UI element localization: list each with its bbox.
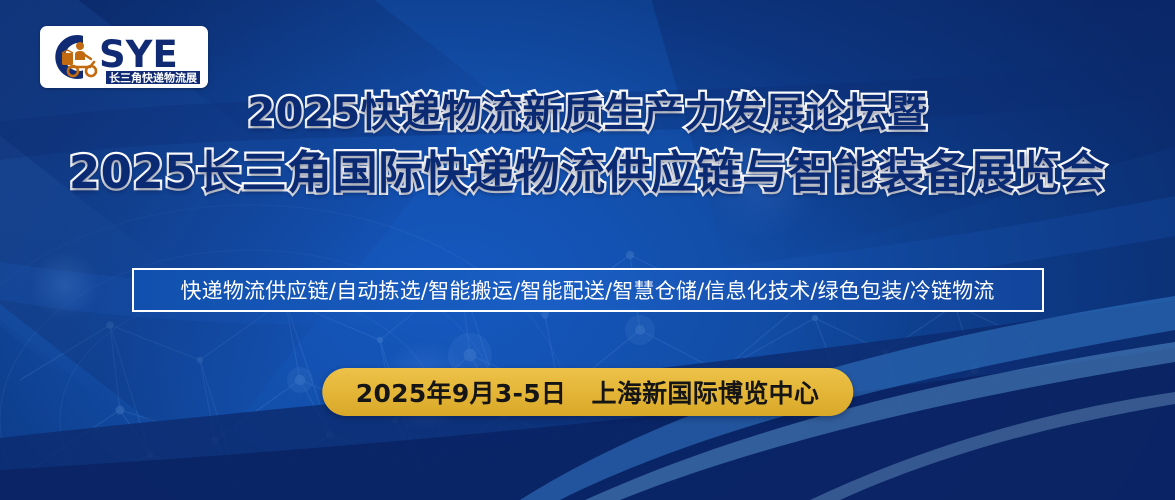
- event-banner: SYE 长三角快递物流展 2025快递物流新质生产力发展论坛暨 2025长三角国…: [0, 0, 1175, 500]
- keywords-text: 快递物流供应链/自动拣选/智能搬运/智能配送/智慧仓储/信息化技术/绿色包装/冷…: [180, 275, 994, 305]
- date-venue-badge: 2025年9月3-5日 上海新国际博览中心: [322, 368, 853, 416]
- csye-logo[interactable]: SYE 长三角快递物流展: [40, 26, 208, 88]
- keywords-band: 快递物流供应链/自动拣选/智能搬运/智能配送/智慧仓储/信息化技术/绿色包装/冷…: [132, 268, 1044, 312]
- banner-titles: 2025快递物流新质生产力发展论坛暨 2025长三角国际快递物流供应链与智能装备…: [0, 92, 1175, 198]
- title-line-1: 2025快递物流新质生产力发展论坛暨: [0, 92, 1175, 135]
- date-venue-text: 2025年9月3-5日 上海新国际博览中心: [356, 374, 819, 410]
- logo-subtitle: 长三角快递物流展: [109, 71, 198, 85]
- glow-blob-3: [30, 250, 100, 320]
- logo-graphic: SYE 长三角快递物流展: [44, 29, 204, 85]
- title-line-2: 2025长三角国际快递物流供应链与智能装备展览会: [0, 149, 1175, 198]
- logo-wordmark: SYE: [99, 33, 178, 76]
